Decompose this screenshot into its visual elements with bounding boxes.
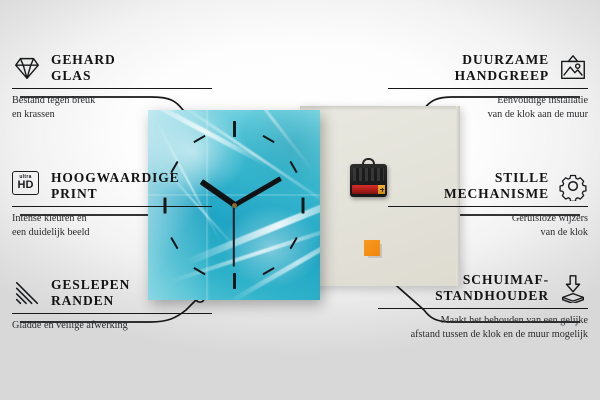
callout-duurzame-handgreep: DUURZAMEHANDGREEP Eenvoudige installatie… [388, 52, 588, 122]
callout-hoogwaardige-print: ultra HD HOOGWAARDIGEPRINT Intense kleur… [12, 170, 212, 240]
callout-title: HOOGWAARDIGEPRINT [51, 170, 180, 202]
hanging-loop-icon [362, 158, 375, 166]
callout-title: DUURZAMEHANDGREEP [455, 52, 549, 84]
callout-gehard-glas: GEHARDGLAS Bestand tegen breuken krassen [12, 52, 212, 122]
callout-description: Maakt het behouden van een gelijkeafstan… [378, 314, 588, 342]
callout-stille-mechanisme: STILLEMECHANISME Geruisloze wijzersvan d… [388, 170, 588, 240]
ultra-hd-icon: ultra HD [12, 171, 42, 201]
callout-description: Gladde en veilige afwerking [12, 319, 212, 333]
callout-header: ultra HD HOOGWAARDIGEPRINT [12, 170, 212, 202]
callout-title: STILLEMECHANISME [444, 170, 549, 202]
callout-header: STILLEMECHANISME [388, 170, 588, 202]
callout-description: Intense kleuren eneen duidelijk beeld [12, 212, 212, 240]
hour-marker [233, 273, 236, 289]
infographic-stage: GEHARDGLAS Bestand tegen breuken krassen… [0, 0, 600, 400]
foam-spacer-icon [558, 273, 588, 303]
diamond-icon [12, 53, 42, 83]
clock-hub [232, 203, 237, 208]
hour-marker [233, 121, 236, 137]
beveled-edge-icon [12, 278, 42, 308]
divider [12, 313, 212, 315]
picture-frame-icon [558, 53, 588, 83]
callout-header: GEHARDGLAS [12, 52, 212, 84]
gear-icon [558, 171, 588, 201]
callout-header: DUURZAMEHANDGREEP [388, 52, 588, 84]
foam-spacer-pad [364, 240, 380, 256]
callout-title: GESLEPENRANDEN [51, 277, 130, 309]
hour-marker [301, 197, 304, 213]
callout-title: SCHUIMAF-STANDHOUDER [435, 272, 549, 304]
callout-geslepen-randen: GESLEPENRANDEN Gladde en veilige afwerki… [12, 277, 212, 333]
callout-title: GEHARDGLAS [51, 52, 116, 84]
divider [388, 88, 588, 90]
divider [12, 206, 212, 208]
divider [388, 206, 588, 208]
callout-description: Geruisloze wijzersvan de klok [388, 212, 588, 240]
battery-positive-terminal [378, 185, 385, 194]
callout-header: SCHUIMAF-STANDHOUDER [378, 272, 588, 304]
callout-description: Eenvoudige installatievan de klok aan de… [388, 94, 588, 122]
mechanism-vents [353, 168, 384, 181]
callout-header: GESLEPENRANDEN [12, 277, 212, 309]
second-hand [233, 205, 235, 267]
callout-description: Bestand tegen breuken krassen [12, 94, 212, 122]
divider [12, 88, 212, 90]
divider [378, 308, 588, 310]
clock-mechanism [350, 164, 387, 197]
battery [352, 185, 385, 194]
callout-schuimafstandhouder: SCHUIMAF-STANDHOUDER Maakt het behouden … [378, 272, 588, 342]
